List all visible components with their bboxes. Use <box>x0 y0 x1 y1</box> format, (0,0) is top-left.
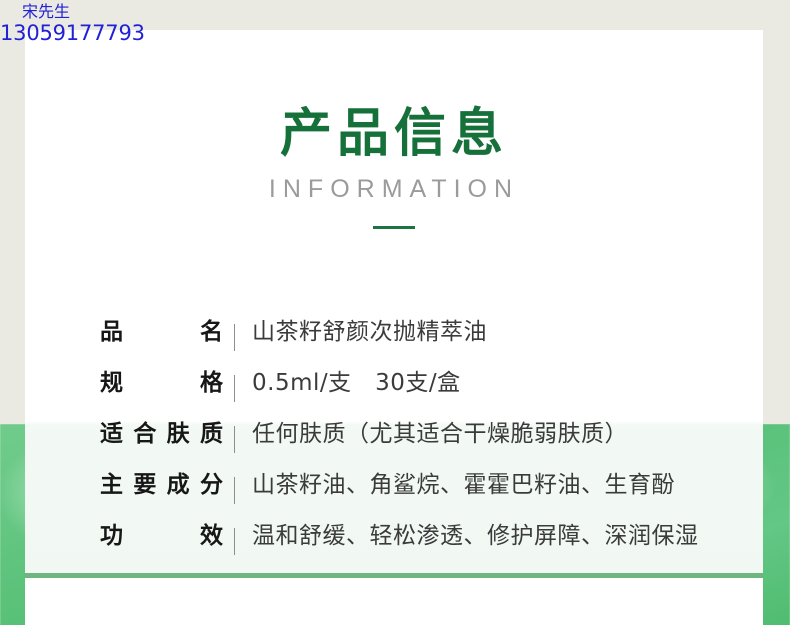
spec-row: 适合肤质 任何肤质（尤其适合干燥脆弱肤质） <box>25 414 763 465</box>
spec-divider <box>234 375 235 402</box>
seller-watermark: 宋先生 13059177793 <box>0 0 200 44</box>
card-bottom-accent-bar <box>25 573 763 578</box>
title-underline-rule <box>373 226 415 229</box>
spec-value-product-name: 山茶籽舒颜次抛精萃油 <box>252 312 763 346</box>
spec-label-product-name: 品名 <box>100 312 223 346</box>
spec-divider <box>234 426 235 453</box>
seller-name: 宋先生 <box>0 0 200 20</box>
spec-label-main-ingredients: 主要成分 <box>100 465 223 499</box>
spec-label-skin-type: 适合肤质 <box>100 414 223 448</box>
spec-label-effects: 功效 <box>100 516 223 550</box>
spec-value-specification: 0.5ml/支 30支/盒 <box>252 363 763 397</box>
spec-value-skin-type: 任何肤质（尤其适合干燥脆弱肤质） <box>252 414 763 448</box>
spec-table: 品名 山茶籽舒颜次抛精萃油 规格 0.5ml/支 30支/盒 适合肤质 任何肤质… <box>25 312 763 567</box>
page-subtitle: INFORMATION <box>25 162 763 204</box>
spec-label-specification: 规格 <box>100 363 223 397</box>
page-title: 产品信息 <box>25 30 763 162</box>
spec-value-main-ingredients: 山茶籽油、角鲨烷、霍霍巴籽油、生育酚 <box>252 465 763 499</box>
spec-divider <box>234 477 235 504</box>
page-header: 产品信息 INFORMATION <box>25 30 763 229</box>
seller-phone: 13059177793 <box>0 20 200 44</box>
spec-row: 规格 0.5ml/支 30支/盒 <box>25 363 763 414</box>
info-card: 产品信息 INFORMATION 品名 山茶籽舒颜次抛精萃油 规格 0.5ml/… <box>25 30 763 573</box>
spec-row: 功效 温和舒缓、轻松渗透、修护屏障、深润保湿 <box>25 516 763 567</box>
spec-divider <box>234 324 235 351</box>
spec-row: 主要成分 山茶籽油、角鲨烷、霍霍巴籽油、生育酚 <box>25 465 763 516</box>
spec-row: 品名 山茶籽舒颜次抛精萃油 <box>25 312 763 363</box>
spec-value-effects: 温和舒缓、轻松渗透、修护屏障、深润保湿 <box>252 516 763 550</box>
product-info-page: 产品信息 INFORMATION 品名 山茶籽舒颜次抛精萃油 规格 0.5ml/… <box>0 0 790 625</box>
spec-divider <box>234 528 235 555</box>
